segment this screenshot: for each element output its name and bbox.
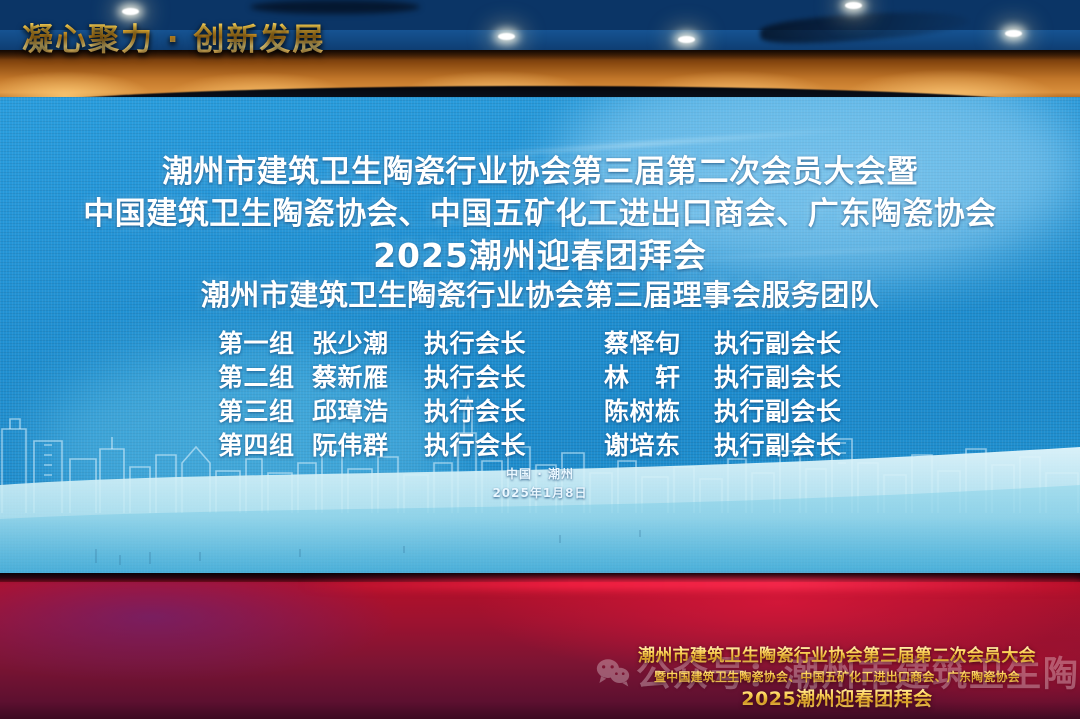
headline-line-4: 潮州市建筑卫生陶瓷行业协会第三届理事会服务团队 [0, 279, 1080, 311]
spotlight-icon [845, 2, 862, 9]
roster-name: 邱璋浩 [312, 392, 424, 428]
roster-list: 第一组 张少潮 执行会长 蔡怿旬 执行副会长 第二组 蔡新雁 执行会长 林 轩 … [0, 324, 1080, 460]
roster-name: 蔡新雁 [312, 358, 424, 394]
light-streak [430, 128, 849, 160]
spotlight-icon [678, 36, 695, 43]
banner-slogan: 凝心聚力 · 创新发展 [22, 14, 325, 59]
roster-group: 第二组 [218, 358, 312, 394]
screen-glow [40, 347, 460, 547]
roster-title: 执行会长 [424, 426, 548, 462]
spotlight-icon [1005, 30, 1022, 37]
screen-footer-place: 中国 · 潮州 [0, 465, 1080, 484]
overlay-caption: 潮州市建筑卫生陶瓷行业协会第三届第二次会员大会 暨中国建筑卫生陶瓷协会、中国五矿… [602, 645, 1072, 713]
light-streak [300, 206, 860, 229]
headline-line-3: 2025潮州迎春团拜会 [0, 238, 1080, 275]
stage-photo-scene: 潮州市建筑卫生陶瓷行业协会第三届第二次会员大会暨 中国建筑卫生陶瓷协会、中国五矿… [0, 0, 1080, 719]
roster-name-secondary: 谢培东 [604, 426, 714, 462]
roster-title-secondary: 执行副会长 [714, 324, 862, 360]
stage-floor-highlight [300, 578, 1080, 590]
screen-glow [560, 97, 1080, 277]
screen-footer-date: 2025年1月8日 [0, 484, 1080, 503]
roster-title: 执行会长 [424, 392, 548, 428]
roster-row: 第一组 张少潮 执行会长 蔡怿旬 执行副会长 [0, 324, 1080, 358]
roster-row: 第四组 阮伟群 执行会长 谢培东 执行副会长 [0, 426, 1080, 460]
overlay-line-3: 2025潮州迎春团拜会 [602, 686, 1072, 713]
overlay-line-1: 潮州市建筑卫生陶瓷行业协会第三届第二次会员大会 [602, 645, 1072, 668]
roster-title-secondary: 执行副会长 [714, 426, 862, 462]
roster-name: 阮伟群 [312, 426, 424, 462]
headline-line-2: 中国建筑卫生陶瓷协会、中国五矿化工进出口商会、广东陶瓷协会 [0, 197, 1080, 232]
roster-group: 第三组 [218, 392, 312, 428]
roster-row: 第二组 蔡新雁 执行会长 林 轩 执行副会长 [0, 358, 1080, 392]
roster-title-secondary: 执行副会长 [714, 392, 862, 428]
roster-group: 第四组 [218, 426, 312, 462]
wave-graphic [0, 385, 1080, 575]
spotlight-icon [498, 33, 515, 40]
screen-footer: 中国 · 潮州 2025年1月8日 [0, 465, 1080, 502]
roster-title: 执行会长 [424, 358, 548, 394]
led-screen-content: 潮州市建筑卫生陶瓷行业协会第三届第二次会员大会暨 中国建筑卫生陶瓷协会、中国五矿… [0, 97, 1080, 575]
roster-title: 执行会长 [424, 324, 548, 360]
headline-line-1: 潮州市建筑卫生陶瓷行业协会第三届第二次会员大会暨 [0, 155, 1080, 190]
roster-group: 第一组 [218, 324, 312, 360]
overlay-line-2: 暨中国建筑卫生陶瓷协会、中国五矿化工进出口商会、广东陶瓷协会 [602, 668, 1072, 686]
roster-name-secondary: 蔡怿旬 [604, 324, 714, 360]
ceiling-fixture-shape-secondary [250, 0, 420, 14]
roster-name-secondary: 陈树栋 [604, 392, 714, 428]
roster-title-secondary: 执行副会长 [714, 358, 862, 394]
roster-name: 张少潮 [312, 324, 424, 360]
roster-name-secondary: 林 轩 [604, 358, 714, 394]
wave-band-graphic [0, 445, 1080, 575]
light-streak [120, 184, 420, 196]
led-screen: 潮州市建筑卫生陶瓷行业协会第三届第二次会员大会暨 中国建筑卫生陶瓷协会、中国五矿… [0, 97, 1080, 575]
roster-row: 第三组 邱璋浩 执行会长 陈树栋 执行副会长 [0, 392, 1080, 426]
light-streak [600, 241, 1030, 266]
city-skyline-graphic [0, 393, 1080, 513]
